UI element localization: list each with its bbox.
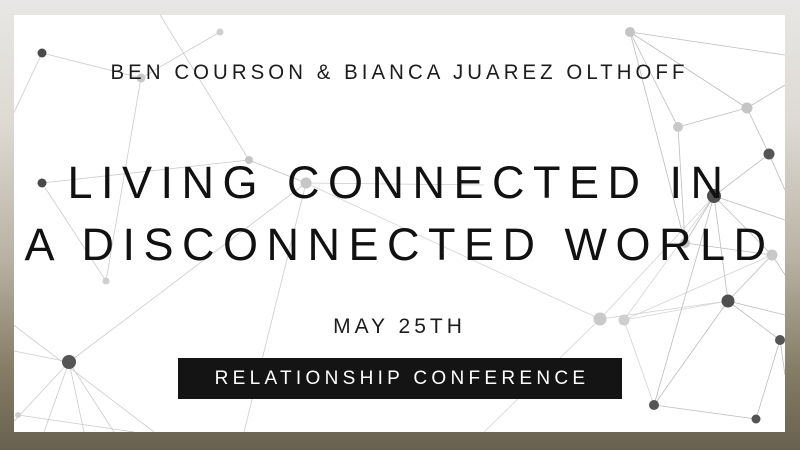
headline-line-2: A DISCONNECTED WORLD — [14, 222, 785, 267]
poster-content: BEN COURSON & BIANCA JUAREZ OLTHOFF LIVI… — [14, 15, 785, 432]
headline-line-1: LIVING CONNECTED IN — [14, 160, 785, 205]
poster-canvas: BEN COURSON & BIANCA JUAREZ OLTHOFF LIVI… — [14, 15, 785, 432]
conference-poster: BEN COURSON & BIANCA JUAREZ OLTHOFF LIVI… — [0, 0, 800, 450]
speakers-line: BEN COURSON & BIANCA JUAREZ OLTHOFF — [26, 61, 774, 85]
conference-banner: RELATIONSHIP CONFERENCE — [178, 358, 622, 399]
conference-banner-label: RELATIONSHIP CONFERENCE — [215, 368, 590, 390]
event-date: MAY 25TH — [14, 315, 785, 339]
